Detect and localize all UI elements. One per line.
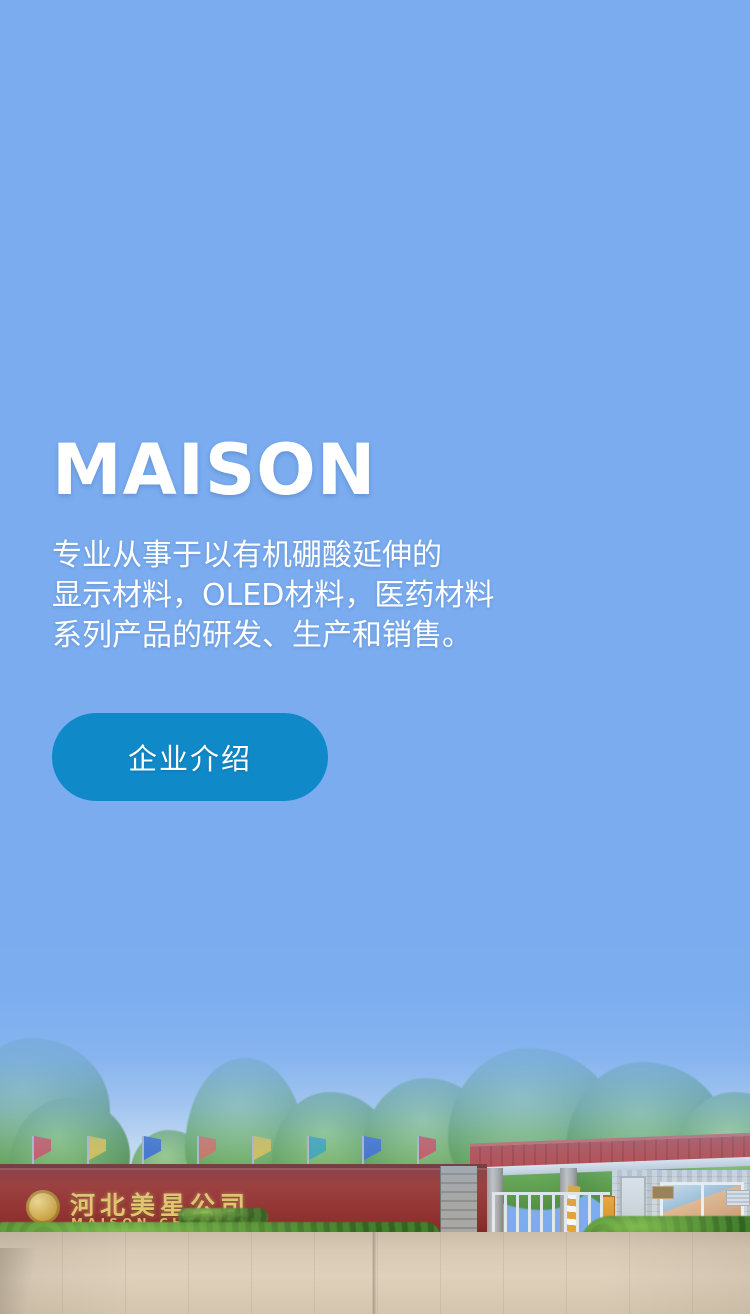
hero-description: 专业从事于以有机硼酸延伸的 显示材料，OLED材料，医药材料 系列产品的研发、生… — [52, 536, 494, 656]
road-shadow — [0, 1248, 42, 1314]
hero-content: MAISON 专业从事于以有机硼酸延伸的 显示材料，OLED材料，医药材料 系列… — [52, 0, 712, 1314]
air-conditioner-unit — [726, 1190, 750, 1206]
hero-banner: 河北美星公司 MAISON CHEMICAL MAISON 专业从事于以有机硼酸… — [0, 0, 750, 1314]
page-title: MAISON — [52, 434, 376, 506]
company-intro-button[interactable]: 企业介绍 — [52, 713, 328, 801]
